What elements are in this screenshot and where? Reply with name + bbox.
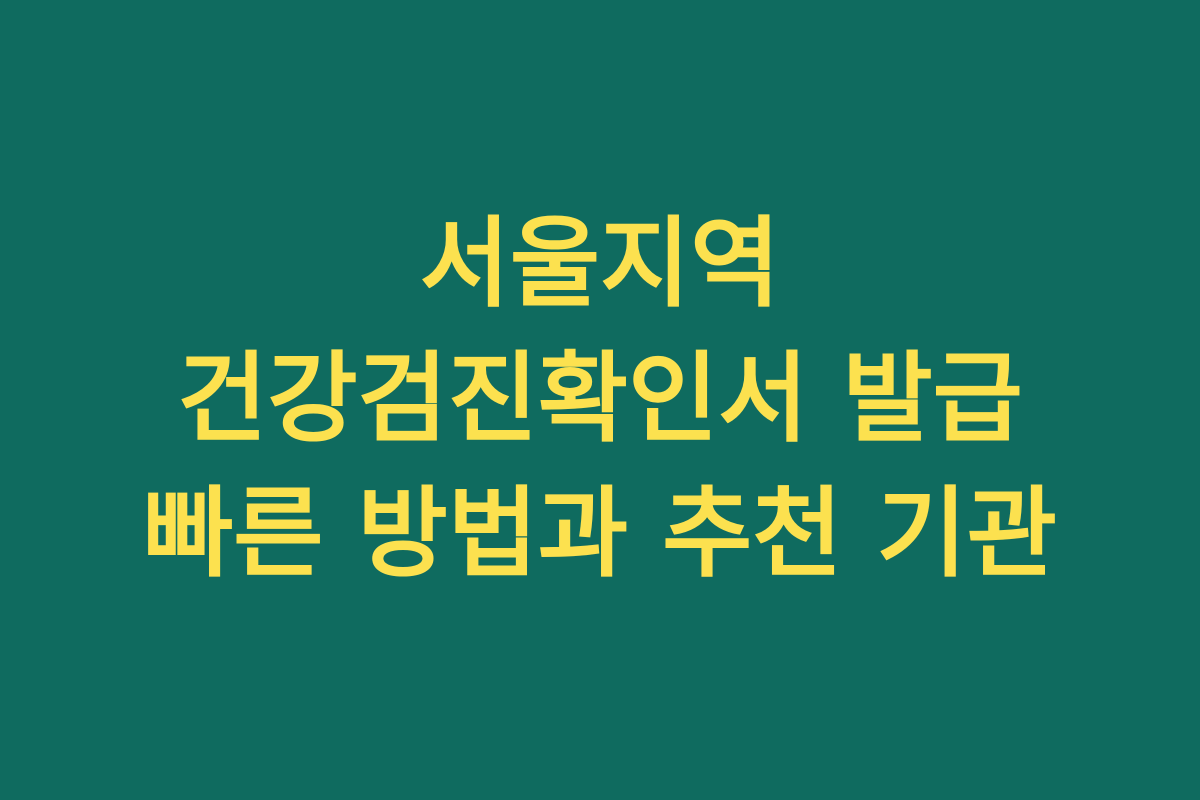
banner-headline: 서울지역 건강검진확인서 발급 빠른 방법과 추천 기관 xyxy=(88,197,1112,602)
banner-canvas: 서울지역 건강검진확인서 발급 빠른 방법과 추천 기관 xyxy=(0,0,1200,800)
